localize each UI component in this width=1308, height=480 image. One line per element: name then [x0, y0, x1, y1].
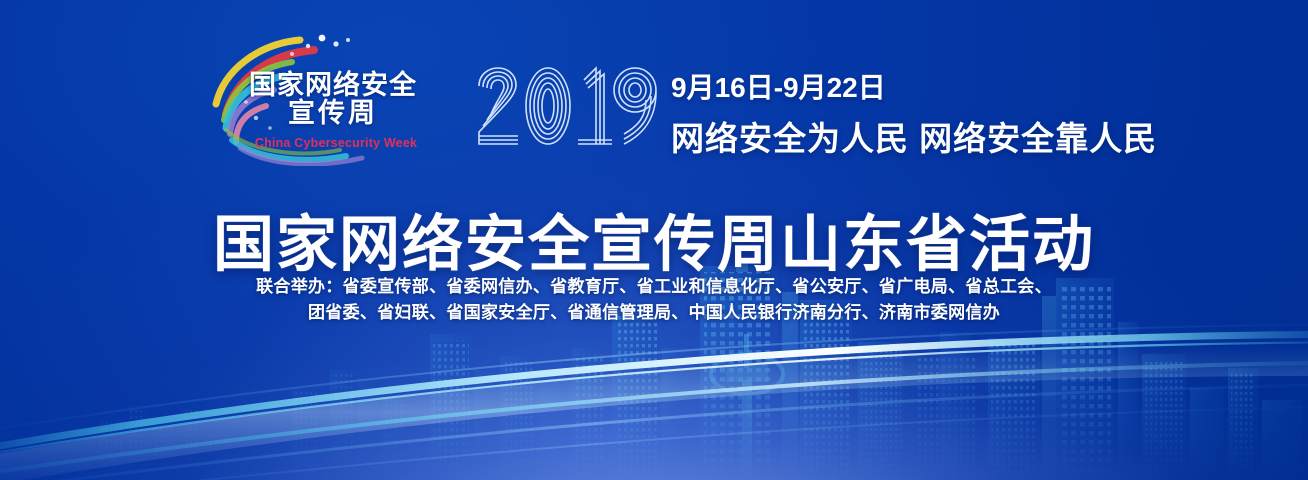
logo-name-line1: 国家网络安全 [244, 72, 422, 100]
logo-english-name: China Cybersecurity Week [248, 136, 424, 150]
logo-name-line2: 宣传周 [244, 100, 422, 128]
event-slogan: 网络安全为人民 网络安全靠人民 [671, 112, 1157, 160]
page-title: 国家网络安全宣传周山东省活动 [0, 194, 1308, 283]
organizers-line-1: 联合举办：省委宣传部、省委网信办、省教育厅、省工业和信息化厅、省公安厅、省广电局… [0, 272, 1308, 297]
year-2019-graphic [472, 62, 662, 160]
cybersecurity-week-logo: 国家网络安全 宣传周 China Cybersecurity Week [196, 32, 428, 166]
cybersecurity-week-banner: 国家网络安全 宣传周 China Cybersecurity Week [0, 0, 1308, 480]
logo-chinese-name: 国家网络安全 宣传周 [244, 72, 422, 127]
event-dates: 9月16日-9月22日 [671, 66, 886, 106]
organizers-line-2: 团省委、省妇联、省国家安全厅、省通信管理局、中国人民银行济南分行、济南市委网信办 [0, 298, 1308, 323]
